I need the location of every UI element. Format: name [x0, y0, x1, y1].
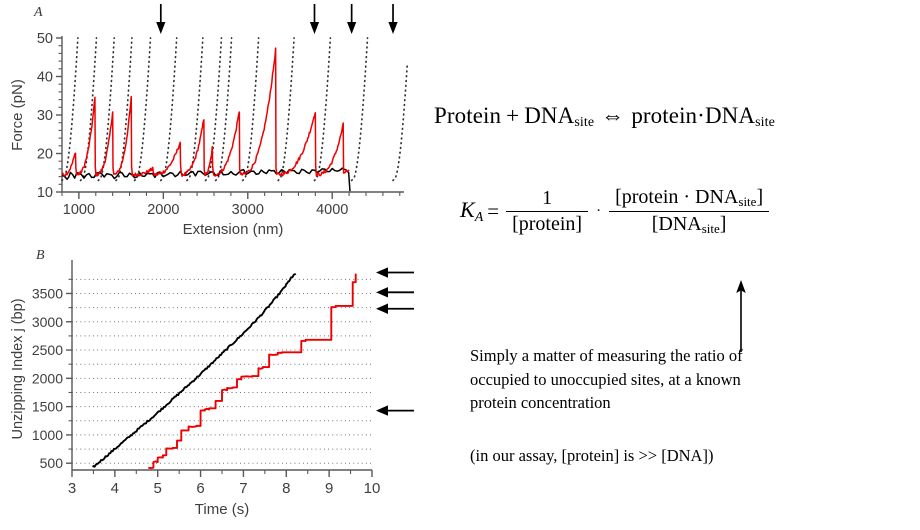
- explanatory-note: Simply a matter of measuring the ratio o…: [470, 344, 830, 415]
- panel-a-plot: 10203040501000200030004000Extension (nm)…: [0, 0, 420, 232]
- panel-b-arrow-group: [376, 267, 414, 415]
- ka-frac2-den-close: ]: [720, 213, 727, 235]
- panel-b-y-tick-label: 500: [40, 455, 64, 471]
- panel-b-arrow-head: [376, 405, 388, 415]
- panel-a-arrow-head: [310, 22, 319, 34]
- panel-b-x-tick-label: 3: [68, 480, 76, 497]
- ka-multiply-dot: ·: [596, 203, 601, 220]
- reaction-lhs-dna-subscript: site: [574, 115, 594, 130]
- panel-a-force-extension: 10203040501000200030004000Extension (nm)…: [0, 0, 420, 232]
- panel-a-x-tick-label: 1000: [63, 202, 95, 218]
- panel-a-dotted-curve: [206, 38, 222, 180]
- panel-b-x-tick-label: 7: [239, 480, 247, 497]
- reaction-equation: Protein+DNAsite⇔protein·DNAsite: [434, 103, 904, 131]
- panel-a-x-tick-label: 3000: [232, 202, 264, 218]
- note-line-2: occupied to unoccupied sites, at a known: [470, 368, 830, 392]
- panel-b-x-axis-label: Time (s): [195, 501, 249, 518]
- reaction-rhs-protein: protein: [631, 103, 697, 128]
- panel-a-y-tick-label: 40: [37, 70, 53, 86]
- panel-a-dotted-curve: [161, 38, 177, 180]
- ka-symbol-letter: K: [460, 197, 475, 222]
- ka-frac2-num-open: [protein · DNA: [615, 186, 738, 208]
- panel-b-y-tick-label: 2000: [32, 370, 63, 386]
- panel-b-x-tick-label: 10: [364, 480, 381, 497]
- reaction-equilibrium-arrow: ⇔: [594, 103, 631, 128]
- panel-b-y-tick-label: 3500: [32, 285, 63, 301]
- panel-a-arrow-head: [347, 22, 356, 34]
- panel-b-gridlines: [72, 279, 372, 463]
- ka-fraction-one-numerator: 1: [536, 187, 558, 210]
- panel-a-dotted-curves: [62, 38, 407, 180]
- ka-symbol: KA: [460, 197, 483, 226]
- reaction-rhs-dna: DNA: [705, 103, 755, 128]
- panel-b-x-tick-label: 8: [282, 480, 290, 497]
- ka-equals: =: [487, 199, 499, 224]
- panel-b-y-tick-label: 2500: [32, 342, 63, 358]
- panel-a-arrow-head: [388, 22, 397, 34]
- panel-b-red-trace: [148, 274, 355, 469]
- ka-frac2-den-sub: site: [702, 221, 720, 236]
- reaction-lhs-protein: Protein: [434, 103, 501, 128]
- panel-a-y-axis-label: Force (pN): [9, 79, 26, 151]
- panel-a-y-tick-label: 50: [37, 31, 53, 47]
- panel-a-dotted-curve: [393, 64, 407, 180]
- ka-fraction-two: [protein · DNAsite] [DNAsite]: [609, 186, 769, 237]
- ka-equation: KA = 1 [protein] · [protein · DNAsite] […: [460, 186, 769, 237]
- panel-a-y-tick-label: 30: [37, 108, 53, 124]
- ka-fraction-two-numerator: [protein · DNAsite]: [609, 186, 769, 211]
- panel-b-y-axis-label: Unzipping Index j (bp): [10, 298, 26, 439]
- panel-a-x-tick-label: 2000: [147, 202, 179, 218]
- slide-root: A 10203040501000200030004000Extension (n…: [0, 0, 920, 530]
- ka-fraction-one-denominator: [protein]: [506, 212, 588, 235]
- panel-b-x-tick-label: 5: [154, 480, 162, 497]
- callout-up-arrow: [726, 280, 756, 352]
- panel-a-y-tick-label: 10: [37, 185, 53, 201]
- reaction-rhs-dna-subscript: site: [755, 115, 775, 130]
- panel-b-plot: 500100015002000250030003500345678910Time…: [0, 238, 420, 530]
- panel-a-arrow-group: [156, 4, 397, 34]
- panel-a-dotted-curve: [314, 38, 330, 180]
- panel-b-y-tick-label: 3000: [32, 314, 63, 330]
- panel-a-x-tick-label: 4000: [316, 202, 348, 218]
- ka-symbol-subscript: A: [475, 210, 484, 225]
- note-line-3: protein concentration: [470, 391, 830, 415]
- panel-b-x-tick-label: 9: [325, 480, 333, 497]
- panel-b-y-tick-label: 1000: [32, 427, 63, 443]
- panel-a-dotted-curve: [135, 38, 151, 180]
- panel-a-arrow-head: [156, 22, 165, 34]
- panel-a-x-axis-label: Extension (nm): [183, 221, 284, 238]
- panel-a-dotted-curve: [278, 38, 294, 180]
- panel-a-dotted-curve: [216, 38, 232, 180]
- ka-fraction-two-denominator: [DNAsite]: [646, 212, 733, 237]
- assay-note: (in our assay, [protein] is >> [DNA]): [470, 446, 830, 466]
- panel-b-black-trace: [93, 274, 296, 467]
- panel-b-arrow-head: [376, 304, 388, 314]
- panel-b-y-tick-label: 1500: [32, 399, 63, 415]
- panel-a-dotted-curve: [352, 38, 368, 180]
- panel-b-arrow-head: [376, 287, 388, 297]
- ka-frac2-num-sub: site: [738, 194, 756, 209]
- note-line-1: Simply a matter of measuring the ratio o…: [470, 344, 830, 368]
- reaction-middot: ·: [697, 103, 705, 128]
- panel-b-unzipping-index: 500100015002000250030003500345678910Time…: [0, 238, 420, 530]
- ka-fraction-one: 1 [protein]: [506, 187, 588, 235]
- panel-a-y-tick-label: 20: [37, 147, 53, 163]
- panel-b-x-tick-label: 6: [196, 480, 204, 497]
- ka-frac2-den-open: [DNA: [652, 213, 702, 235]
- reaction-lhs-dna: DNA: [524, 103, 574, 128]
- ka-frac2-num-close: ]: [756, 186, 763, 208]
- panel-b-arrow-head: [376, 267, 388, 277]
- panel-b-x-tick-label: 4: [111, 480, 119, 497]
- reaction-plus: +: [501, 103, 524, 128]
